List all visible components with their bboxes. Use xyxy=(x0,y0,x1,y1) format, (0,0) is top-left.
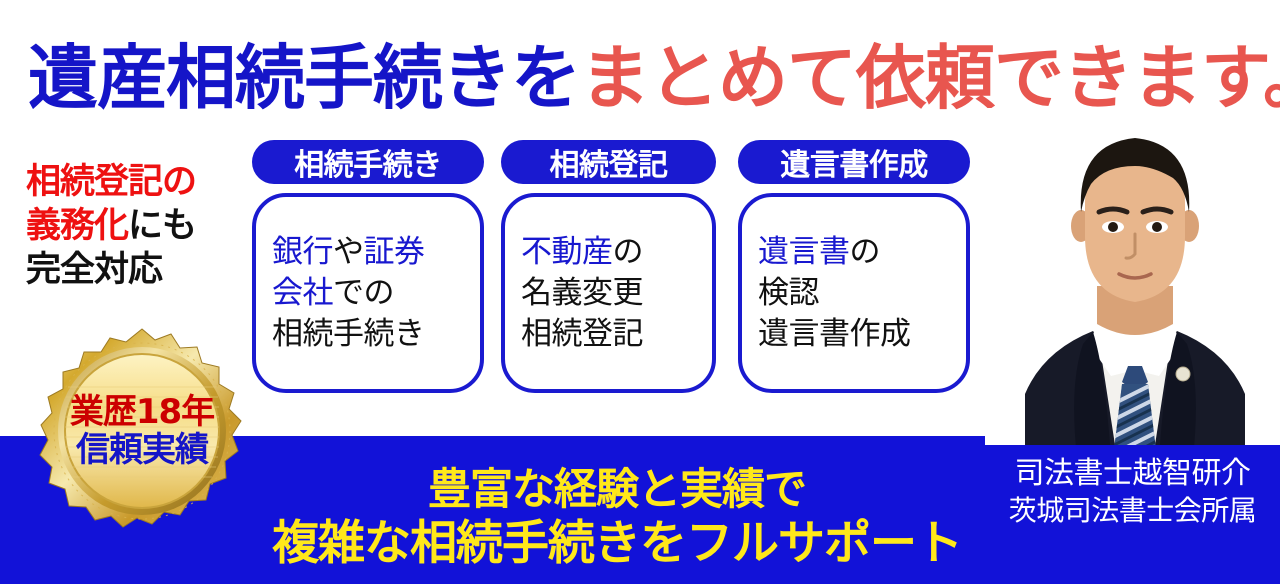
lawyer-name: 司法書士越智研介 xyxy=(1015,454,1251,493)
lawyer-portrait-photo xyxy=(985,108,1280,458)
card-line: 相続登記 xyxy=(521,314,696,355)
card-pill-label-2: 遺言書作成 xyxy=(738,140,970,184)
seal-line-2: 信頼実績 xyxy=(76,431,208,469)
seal-text-block: 業歴18年 信頼実績 xyxy=(38,327,246,535)
card-line: 名義変更 xyxy=(521,273,696,314)
left-copy-line-3: 完全対応 xyxy=(26,248,236,292)
card-body-0: 銀行や証券 会社での 相続手続き xyxy=(252,193,484,393)
card-pill-label-1: 相続登記 xyxy=(501,140,716,184)
bottom-banner-line-2: 複雑な相続手続きをフルサポート xyxy=(272,516,962,571)
seal-line-1: 業歴18年 xyxy=(70,393,214,431)
lawyer-name-block: 司法書士越智研介 茨城司法書士会所属 xyxy=(985,450,1280,550)
service-card-inheritance-registration[interactable]: 相続登記 不動産の 名義変更 相続登記 xyxy=(501,140,716,393)
card-body-1: 不動産の 名義変更 相続登記 xyxy=(501,193,716,393)
bottom-banner-line-1: 豊富な経験と実績で xyxy=(428,465,806,515)
card-line: 検認 xyxy=(758,273,950,314)
card-line: 遺言書の xyxy=(758,232,950,273)
experience-seal-badge: 業歴18年 信頼実績 xyxy=(38,327,246,535)
lawyer-affiliation: 茨城司法書士会所属 xyxy=(1009,493,1257,529)
headline-blue-text: 遺産相続手続きを xyxy=(28,37,580,119)
card-line: 遺言書作成 xyxy=(758,314,950,355)
card-body-2: 遺言書の 検認 遺言書作成 xyxy=(738,193,970,393)
card-line: 不動産の xyxy=(521,232,696,273)
service-card-inheritance-procedures[interactable]: 相続手続き 銀行や証券 会社での 相続手続き xyxy=(252,140,484,393)
card-line: 相続手続き xyxy=(272,314,464,355)
portrait-illustration xyxy=(985,108,1280,458)
card-pill-label-0: 相続手続き xyxy=(252,140,484,184)
service-cards: 相続手続き 銀行や証券 会社での 相続手続き 相続登記 不動産の xyxy=(252,140,982,430)
bottom-banner-copy: 豊富な経験と実績で 複雑な相続手続きをフルサポート xyxy=(252,452,982,584)
left-copy-line-1: 相続登記の xyxy=(26,160,236,204)
inheritance-services-banner: 遺産相続手続きをまとめて依頼できます。 相続登記の 義務化にも 完全対応 xyxy=(0,0,1280,584)
headline-red-text: まとめて依頼できます。 xyxy=(580,37,1280,119)
left-copy-line-2: 義務化にも xyxy=(26,204,236,248)
service-card-will-preparation[interactable]: 遺言書作成 遺言書の 検認 遺言書作成 xyxy=(738,140,970,393)
left-support-copy: 相続登記の 義務化にも 完全対応 xyxy=(26,160,236,292)
card-line: 会社での xyxy=(272,273,464,314)
card-line: 銀行や証券 xyxy=(272,232,464,273)
